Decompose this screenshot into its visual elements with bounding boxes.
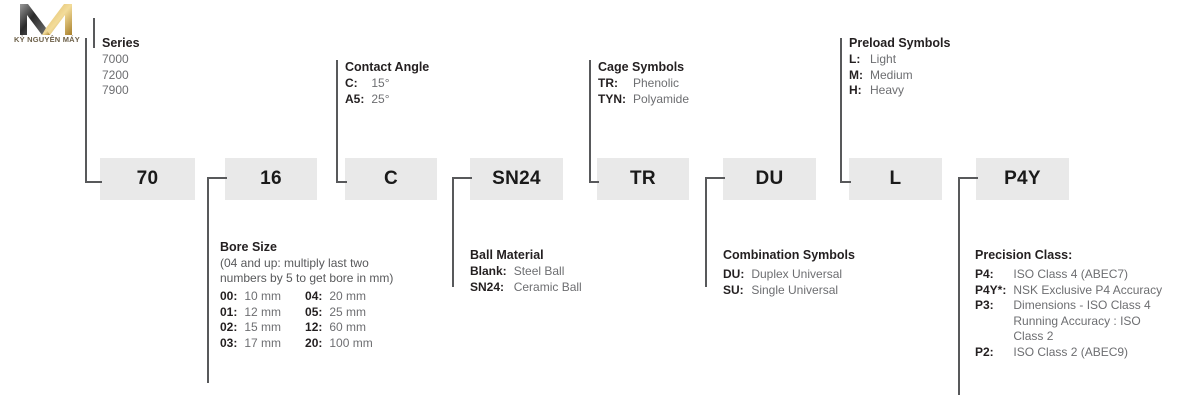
ball-material-rows: Blank: Steel Ball SN24: Ceramic Ball <box>470 264 582 295</box>
row-key: 02: <box>220 320 244 336</box>
row-key: P4: <box>975 267 1013 283</box>
row-value: 25 mm <box>329 305 372 321</box>
row-key: TR: <box>598 76 633 92</box>
row-key: 20: <box>305 336 329 352</box>
connector-ball-vertical <box>452 177 454 287</box>
bore-size-note-line1: (04 and up: multiply last two <box>220 256 393 271</box>
preload-rows: L: Light M: Medium H: Heavy <box>849 52 913 99</box>
row-key: A5: <box>345 92 371 108</box>
connector-combination-vertical <box>705 177 707 287</box>
brand-logo: KỶ NGUYÊN MÁY <box>4 2 90 48</box>
row-value: Heavy <box>870 83 913 99</box>
connector-preload-horizontal <box>840 181 851 183</box>
contact-angle-rows: C: 15° A5: 25° <box>345 76 390 107</box>
row-value: 10 mm <box>244 289 281 305</box>
code-box-precision-class[interactable]: P4Y <box>976 158 1069 200</box>
block-ball-material: Ball Material Blank: Steel Ball SN24: Ce… <box>470 248 582 295</box>
logo-wordmark: KỶ NGUYÊN MÁY <box>4 35 90 44</box>
row-key: DU: <box>723 267 751 283</box>
row-value: 25° <box>371 92 389 108</box>
bore-size-title: Bore Size <box>220 240 393 254</box>
row-value: ISO Class 2 (ABEC9) <box>1013 345 1163 361</box>
block-precision-class: Precision Class: P4: ISO Class 4 (ABEC7)… <box>975 248 1190 360</box>
row-value: ISO Class 4 (ABEC7) <box>1013 267 1163 283</box>
connector-contact-angle-vertical <box>336 60 338 182</box>
contact-angle-title: Contact Angle <box>345 60 429 74</box>
precision-class-rows: P4: ISO Class 4 (ABEC7) P4Y*: NSK Exclus… <box>975 267 1163 360</box>
row-value: NSK Exclusive P4 Accuracy <box>1013 283 1163 299</box>
connector-cage-horizontal <box>589 181 599 183</box>
cage-rows: TR: Phenolic TYN: Polyamide <box>598 76 689 107</box>
connector-cage-vertical <box>589 60 591 182</box>
series-title: Series <box>102 36 140 50</box>
row-value: Medium <box>870 68 913 84</box>
row-key: C: <box>345 76 371 92</box>
logo-divider <box>93 18 95 48</box>
block-bore-size: Bore Size (04 and up: multiply last two … <box>220 240 393 351</box>
bore-size-columns: 00: 10 mm 01: 12 mm 02: 15 mm 03: 17 mm <box>220 289 393 351</box>
combination-title: Combination Symbols <box>723 248 855 262</box>
row-value: 60 mm <box>329 320 372 336</box>
connector-bore-horizontal <box>207 177 227 179</box>
connector-series-horizontal <box>85 181 102 183</box>
code-box-series[interactable]: 70 <box>100 158 195 200</box>
preload-title: Preload Symbols <box>849 36 950 50</box>
row-key: P4Y*: <box>975 283 1013 299</box>
code-box-contact-angle[interactable]: C <box>345 158 437 200</box>
row-value: Single Universal <box>751 283 842 299</box>
row-value: Ceramic Ball <box>514 280 582 296</box>
row-value: 17 mm <box>244 336 281 352</box>
cage-title: Cage Symbols <box>598 60 689 74</box>
bore-size-rows-left: 00: 10 mm 01: 12 mm 02: 15 mm 03: 17 mm <box>220 289 281 351</box>
row-key: 12: <box>305 320 329 336</box>
precision-class-title: Precision Class: <box>975 248 1190 262</box>
connector-precision-vertical <box>958 177 960 395</box>
row-key: 01: <box>220 305 244 321</box>
row-value: Polyamide <box>633 92 689 108</box>
connector-contact-angle-horizontal <box>336 181 347 183</box>
row-key: P2: <box>975 345 1013 361</box>
code-box-cage[interactable]: TR <box>597 158 689 200</box>
connector-series-vertical <box>85 38 87 182</box>
row-value: 15° <box>371 76 389 92</box>
row-key: P3: <box>975 298 1013 345</box>
connector-preload-vertical <box>840 38 842 182</box>
connector-bore-vertical <box>207 177 209 383</box>
row-key: H: <box>849 83 870 99</box>
combination-rows: DU: Duplex Universal SU: Single Universa… <box>723 267 842 298</box>
connector-precision-horizontal <box>958 177 978 179</box>
row-value: Dimensions - ISO Class 4 Running Accurac… <box>1013 298 1163 345</box>
row-key: Blank: <box>470 264 514 280</box>
block-series: Series 7000 7200 7900 <box>102 36 140 99</box>
nomenclature-diagram: KỶ NGUYÊN MÁY 70 16 C SN24 TR DU L P4Y S… <box>0 0 1200 400</box>
code-box-bore-size[interactable]: 16 <box>225 158 317 200</box>
row-key: M: <box>849 68 870 84</box>
code-box-combination[interactable]: DU <box>723 158 816 200</box>
row-key: 04: <box>305 289 329 305</box>
ball-material-title: Ball Material <box>470 248 582 262</box>
series-value: 7000 <box>102 52 129 68</box>
series-values: 7000 7200 7900 <box>102 52 129 99</box>
m-logo-icon <box>18 2 74 35</box>
series-value: 7200 <box>102 68 129 84</box>
row-value: 15 mm <box>244 320 281 336</box>
block-contact-angle: Contact Angle C: 15° A5: 25° <box>345 60 429 107</box>
row-key: 03: <box>220 336 244 352</box>
row-key: L: <box>849 52 870 68</box>
connector-combination-horizontal <box>705 177 725 179</box>
block-cage-symbols: Cage Symbols TR: Phenolic TYN: Polyamide <box>598 60 689 107</box>
row-key: TYN: <box>598 92 633 108</box>
row-value: 20 mm <box>329 289 372 305</box>
row-value: Phenolic <box>633 76 689 92</box>
row-value: 100 mm <box>329 336 372 352</box>
bore-size-rows-right: 04: 20 mm 05: 25 mm 12: 60 mm 20: 100 mm <box>305 289 373 351</box>
row-value: Steel Ball <box>514 264 582 280</box>
row-value: Light <box>870 52 913 68</box>
row-value: 12 mm <box>244 305 281 321</box>
connector-ball-horizontal <box>452 177 472 179</box>
series-value: 7900 <box>102 83 129 99</box>
block-combination-symbols: Combination Symbols DU: Duplex Universal… <box>723 248 855 298</box>
row-key: SU: <box>723 283 751 299</box>
block-preload-symbols: Preload Symbols L: Light M: Medium H: He… <box>849 36 950 99</box>
row-value: Duplex Universal <box>751 267 842 283</box>
code-box-ball-material[interactable]: SN24 <box>470 158 563 200</box>
row-key: 05: <box>305 305 329 321</box>
row-key: 00: <box>220 289 244 305</box>
bore-size-note-line2: numbers by 5 to get bore in mm) <box>220 271 393 286</box>
row-key: SN24: <box>470 280 514 296</box>
code-box-preload[interactable]: L <box>849 158 942 200</box>
